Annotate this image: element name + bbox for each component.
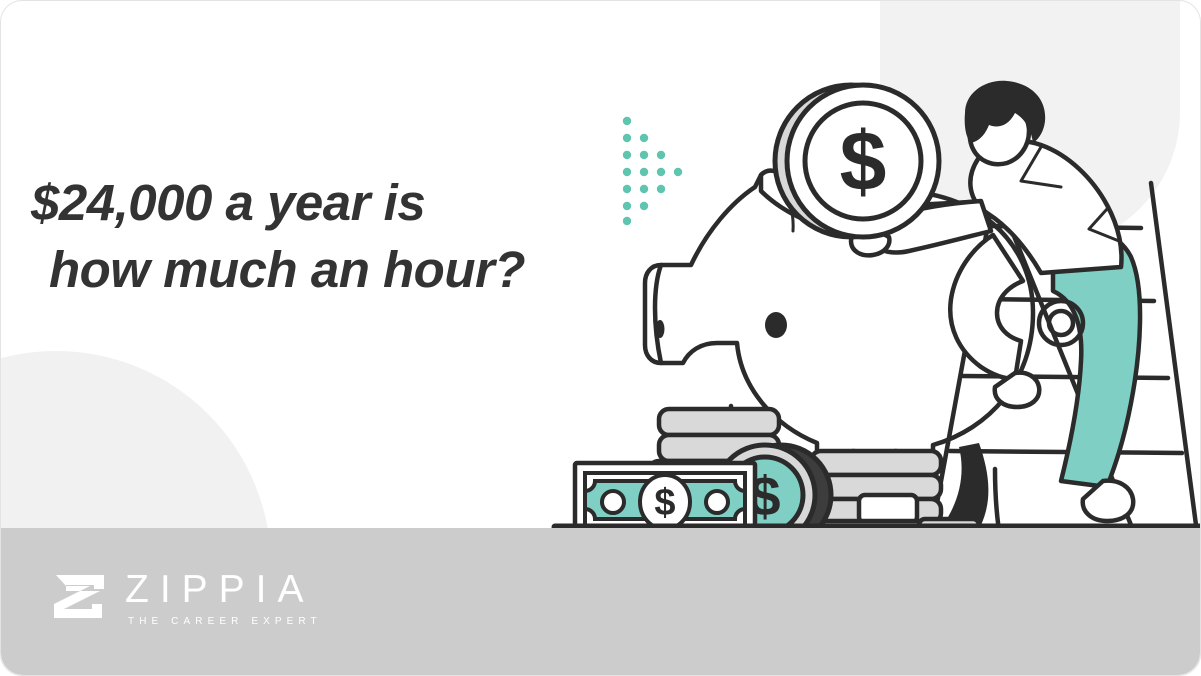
piggy-nostril <box>656 320 665 338</box>
headline-line-2: how much an hour? <box>49 236 591 303</box>
piggy-rear-leg <box>943 443 988 525</box>
large-coin-dollar-symbol: $ <box>840 114 887 208</box>
large-dollar-coin: $ <box>775 85 939 237</box>
logo-tagline: THE CAREER EXPERT <box>128 616 322 627</box>
zippia-logo[interactable]: ZIPPIA THE CAREER EXPERT <box>53 570 322 627</box>
illustration-piggy-bank-scene: .ol { stroke:#2b2b2b; stroke-width:4.5; … <box>541 51 1201 551</box>
page-title: $24,000 a year is how much an hour? <box>31 169 591 304</box>
headline-line-1: $24,000 a year is <box>31 169 591 236</box>
zippia-salary-card: $24,000 a year is how much an hour? .ol … <box>0 0 1201 676</box>
logo-wordmark: ZIPPIA <box>125 570 315 609</box>
zippia-z-logo-icon <box>53 572 107 626</box>
logo-text-block: ZIPPIA THE CAREER EXPERT <box>125 570 322 627</box>
piggy-eye <box>765 312 787 338</box>
banknote-dollar-symbol: $ <box>654 482 675 524</box>
